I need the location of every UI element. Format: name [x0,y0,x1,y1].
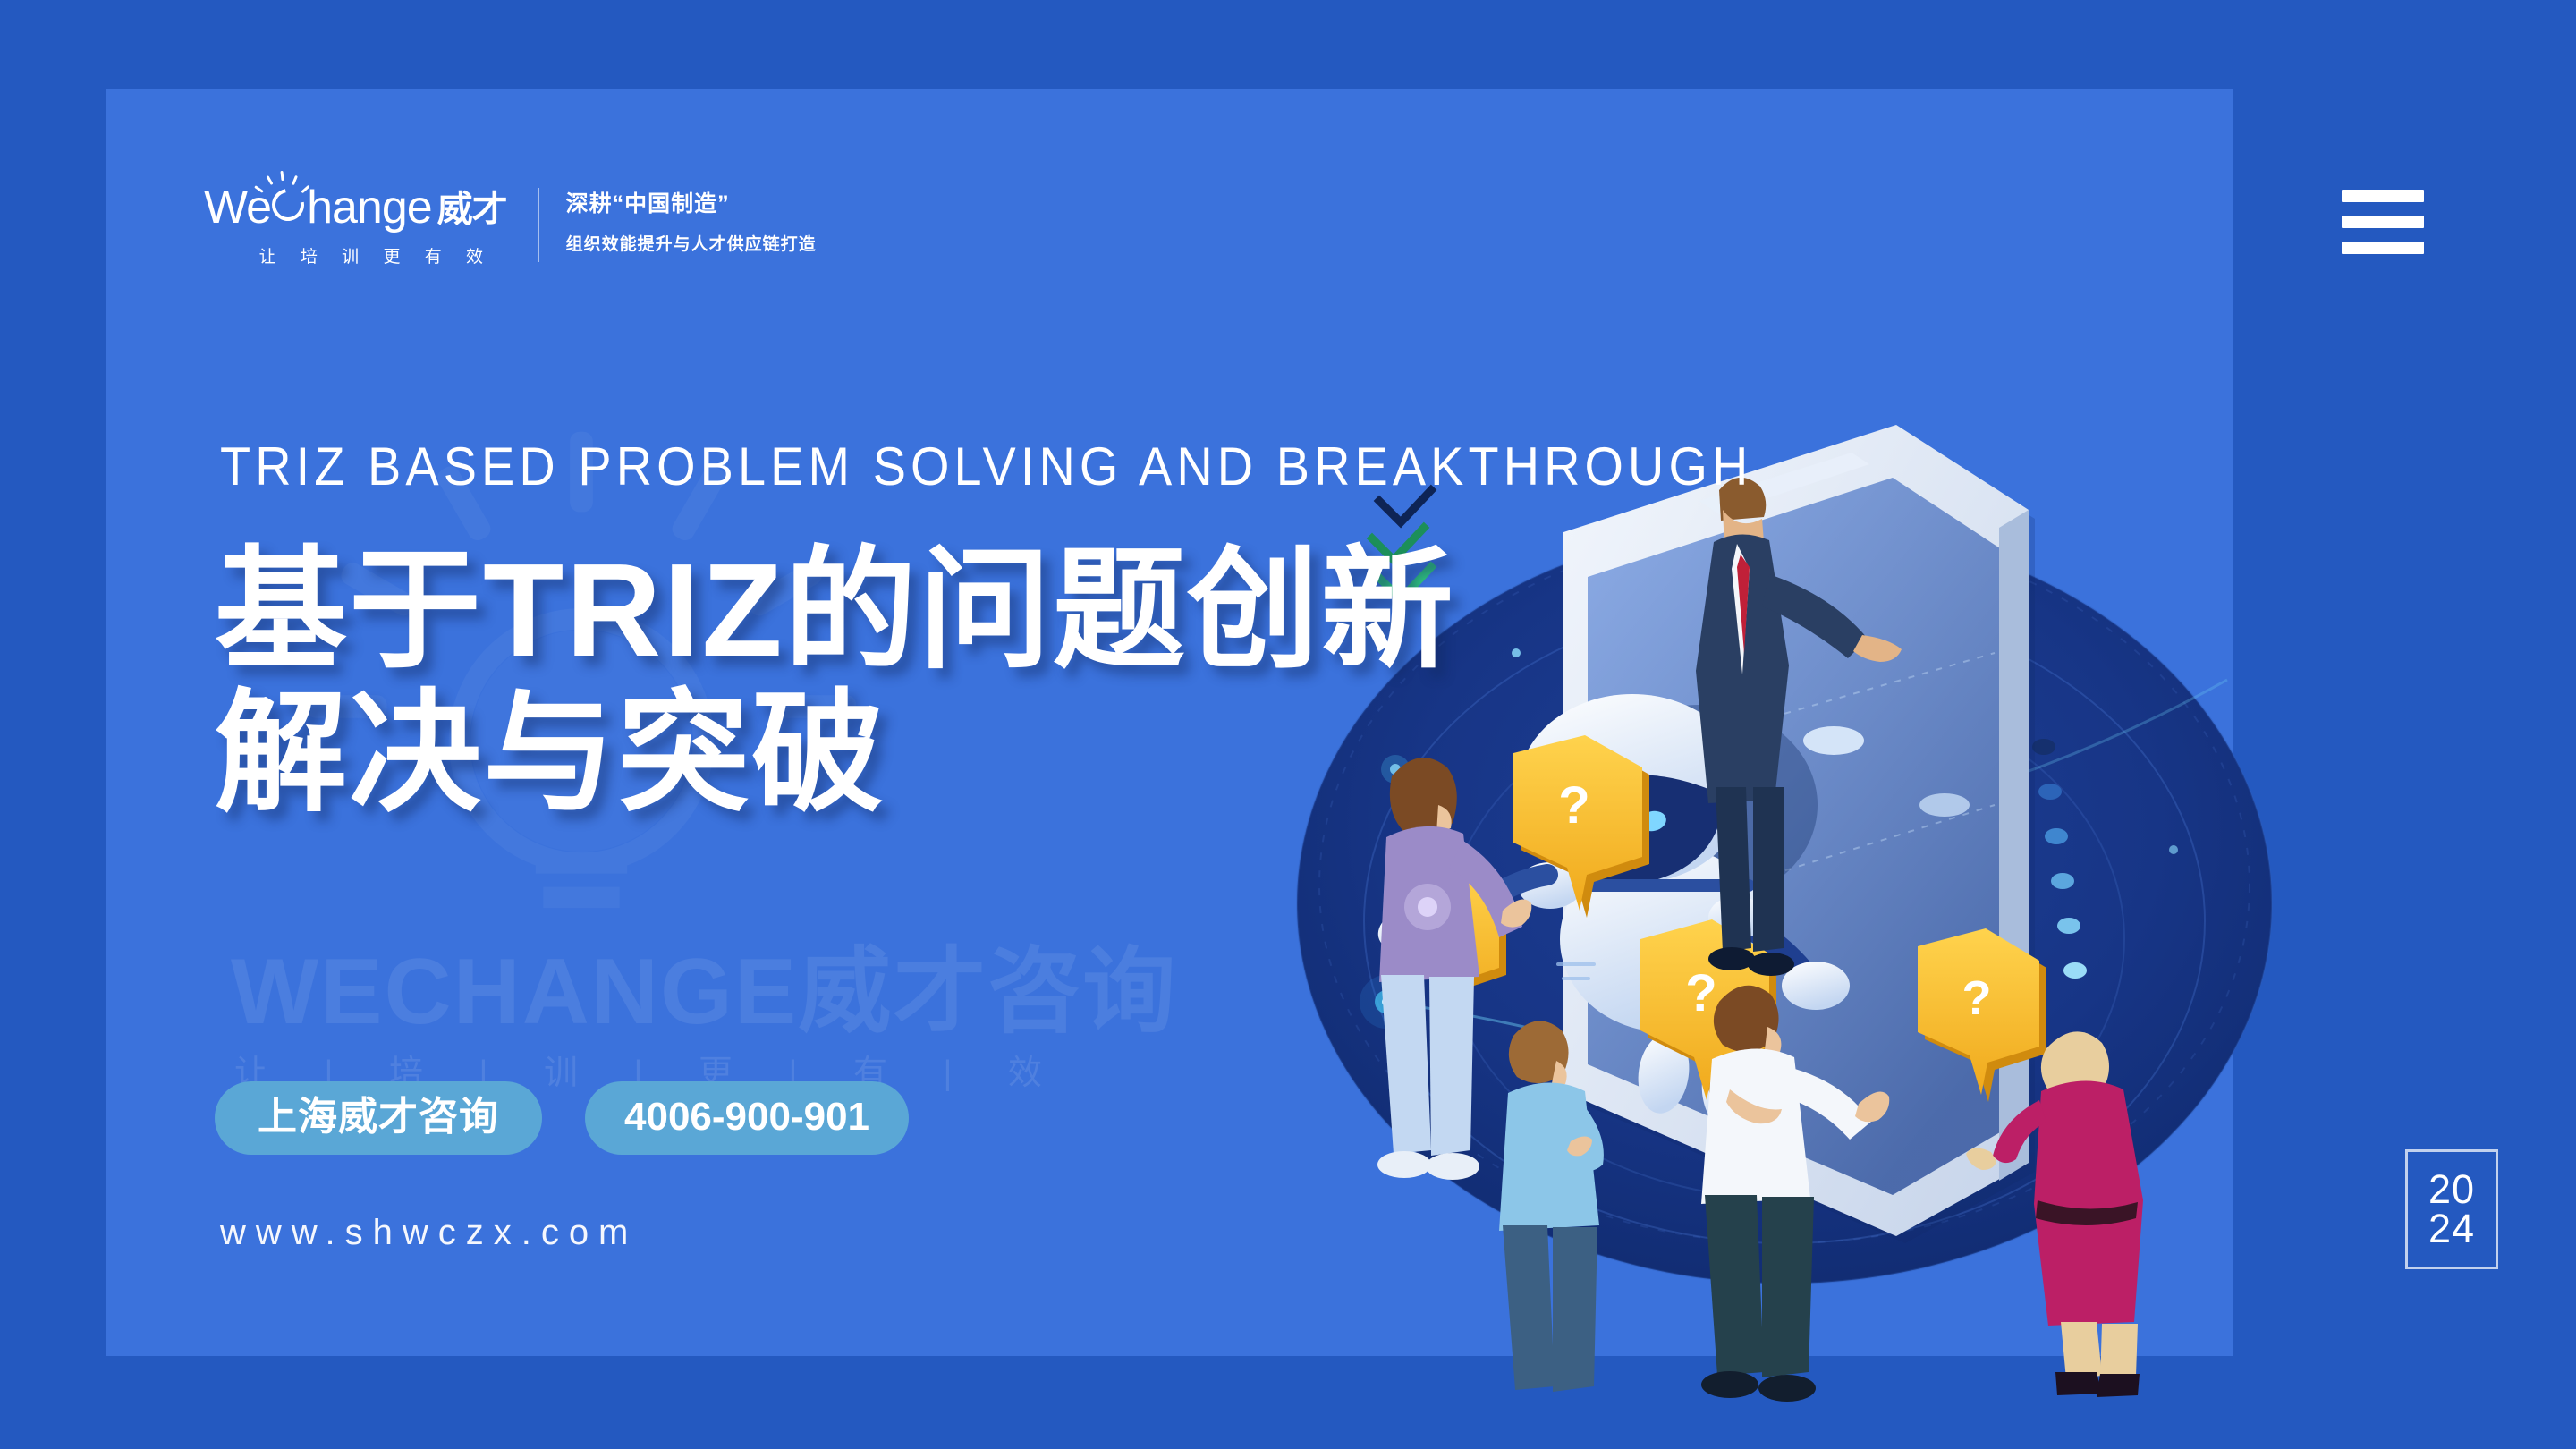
logo-tagline: 让 培 训 更 有 效 [204,243,507,267]
logo-wordmark: Wehange威才 [204,184,507,231]
hero-title-line2: 解决与突破 [215,680,1455,828]
hamburger-bar-3 [2342,241,2424,254]
logo-divider [538,188,539,262]
year-badge-bottom: 24 [2428,1209,2475,1249]
logo-chinese-name: 威才 [437,191,507,227]
website-url[interactable]: www.shwczx.com [220,1213,638,1253]
logo-slogan-block: 深耕“中国制造” 组织效能提升与人才供应链打造 [566,184,817,255]
poster-canvas: WECHANGE威才咨询 让 | 培 | 训 | 更 | 有 | 效 Wehan… [0,0,2576,1449]
brand-logo[interactable]: Wehange威才 让 培 训 更 有 效 深耕“中国制造” 组织效能提升与人才… [204,184,817,267]
hero-title-line1: 基于TRIZ的问题创新 [215,537,1455,685]
hero-title: 基于TRIZ的问题创新 解决与突破 [215,537,1455,828]
logo-hange-text: hange [307,184,432,231]
hamburger-bar-1 [2342,190,2424,202]
year-badge: 20 24 [2405,1149,2498,1269]
hamburger-menu-icon[interactable] [2342,190,2424,254]
company-pill[interactable]: 上海威才咨询 [215,1081,542,1155]
logo-wordmark-block: Wehange威才 让 培 训 更 有 效 [204,184,538,267]
logo-slogan-line1: 深耕“中国制造” [566,186,817,218]
hero-eyebrow: TRIZ BASED PROBLEM SOLVING AND BREAKTHRO… [220,436,1752,497]
contact-pills: 上海威才咨询 4006-900-901 [215,1081,909,1155]
phone-pill[interactable]: 4006-900-901 [585,1081,909,1155]
logo-slogan-line2: 组织效能提升与人才供应链打造 [566,231,817,255]
sun-rays-icon [254,170,317,200]
year-badge-top: 20 [2428,1170,2475,1209]
hamburger-bar-2 [2342,216,2424,228]
